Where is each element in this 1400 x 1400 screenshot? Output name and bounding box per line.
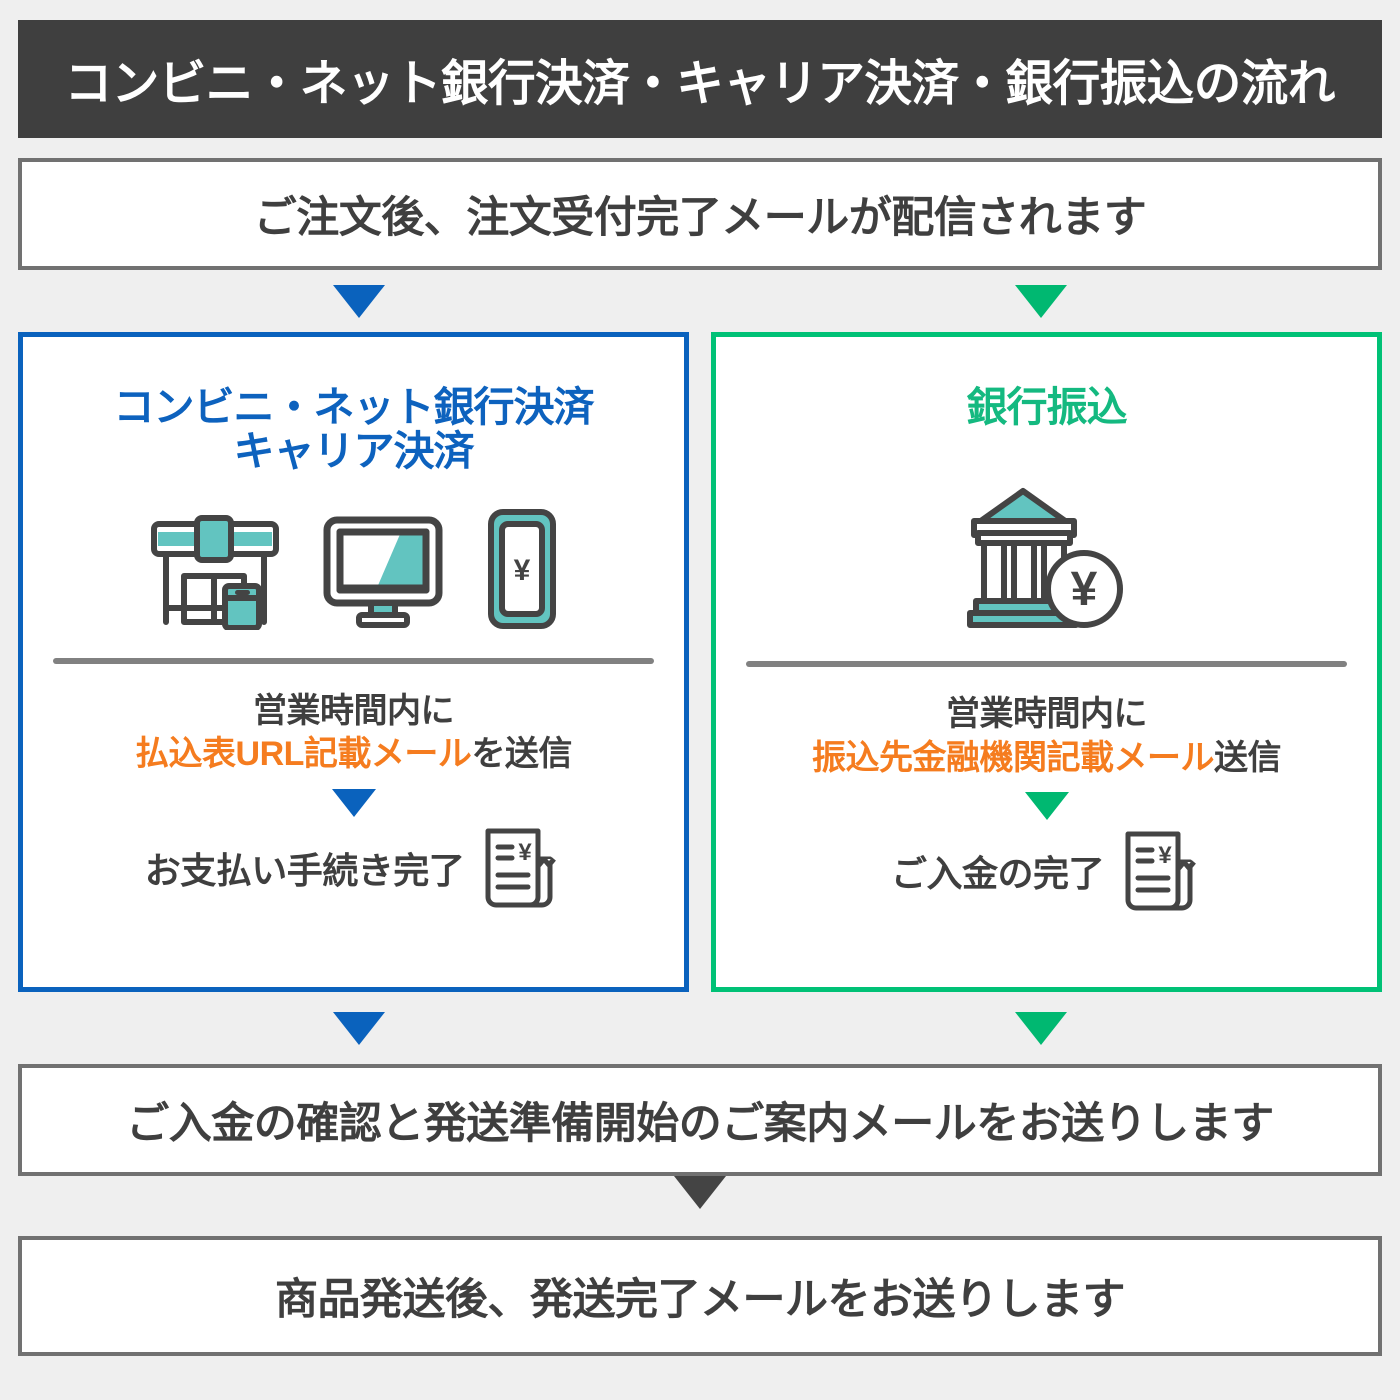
- step-payment-confirmation-label: ご入金の確認と発送準備開始のご案内メールをお送りします: [126, 1089, 1274, 1151]
- page-title: コンビニ・ネット銀行決済・キャリア決済・銀行振込の流れ: [65, 44, 1335, 115]
- panel-convenience-arrow: [332, 789, 376, 817]
- step-shipping-complete-mail: 商品発送後、発送完了メールをお送りします: [18, 1236, 1382, 1356]
- triangle-down-icon-blue-inner: [332, 789, 376, 817]
- panel-convenience-heading: コンビニ・ネット銀行決済 キャリア決済: [114, 385, 594, 474]
- triangle-down-icon-green-inner: [1025, 792, 1069, 820]
- triangle-down-icon-green-lower: [1015, 1012, 1067, 1045]
- triangle-down-icon-gray: [674, 1176, 726, 1209]
- panel-bank-arrow: [1025, 792, 1069, 820]
- receipt-yen-icon: ¥: [478, 825, 562, 911]
- panel-convenience-heading-line1: コンビニ・ネット銀行決済: [114, 384, 594, 430]
- bank-yen-icon: ¥: [960, 483, 1134, 633]
- panel-bank-final-label: ご入金の完了: [891, 845, 1104, 897]
- panel-bank-note-highlight: 振込先金融機関記載メール: [812, 739, 1214, 777]
- payment-method-panels: コンビニ・ネット銀行決済 キャリア決済: [18, 332, 1382, 992]
- triangle-down-icon-blue: [333, 285, 385, 318]
- payment-flow-diagram: コンビニ・ネット銀行決済・キャリア決済・銀行振込の流れ ご注文後、注文受付完了メ…: [0, 20, 1400, 1400]
- arrow-cell-right: [700, 270, 1382, 332]
- panel-convenience-divider: [53, 658, 654, 664]
- svg-text:¥: ¥: [513, 554, 530, 587]
- smartphone-yen-icon: ¥: [485, 508, 559, 630]
- panel-convenience-note: 営業時間内に 払込表URL記載メールを送信: [135, 690, 572, 777]
- triangle-down-icon-green: [1015, 285, 1067, 318]
- step-order-confirmation-label: ご注文後、注文受付完了メールが配信されます: [254, 183, 1147, 245]
- arrow-cell-left: [18, 270, 700, 332]
- panel-bank-icon-strip: ¥: [960, 503, 1134, 633]
- arrow-row-below-panels: [18, 992, 1382, 1064]
- panel-convenience-note-prefix: 営業時間内に: [253, 692, 454, 730]
- arrow-cell-right-lower: [700, 992, 1382, 1064]
- step-shipping-complete-label: 商品発送後、発送完了メールをお送りします: [275, 1265, 1125, 1327]
- arrow-row-to-shipping: [18, 1176, 1382, 1236]
- panel-bank-note-suffix: 送信: [1214, 739, 1281, 777]
- convenience-store-icon: [149, 510, 281, 630]
- panel-convenience-icon-strip: ¥: [149, 500, 559, 630]
- step-payment-confirmation-mail: ご入金の確認と発送準備開始のご案内メールをお送りします: [18, 1064, 1382, 1176]
- svg-text:¥: ¥: [1070, 563, 1097, 616]
- panel-bank-transfer: 銀行振込: [711, 332, 1382, 992]
- panel-bank-heading-line1: 銀行振込: [967, 384, 1127, 430]
- panel-convenience-store: コンビニ・ネット銀行決済 キャリア決済: [18, 332, 689, 992]
- arrow-cell-left-lower: [18, 992, 700, 1064]
- panel-convenience-note-suffix: を送信: [471, 735, 572, 773]
- panel-bank-note: 営業時間内に 振込先金融機関記載メール送信: [812, 693, 1281, 780]
- arrow-row-to-panels: [18, 270, 1382, 332]
- monitor-icon: [321, 512, 445, 630]
- panel-convenience-final: お支払い手続き完了 ¥: [145, 825, 563, 911]
- panel-convenience-note-highlight: 払込表URL記載メール: [135, 735, 471, 773]
- step-order-confirmation-mail: ご注文後、注文受付完了メールが配信されます: [18, 158, 1382, 270]
- svg-text:¥: ¥: [519, 839, 533, 866]
- panel-convenience-final-label: お支払い手続き完了: [145, 842, 465, 894]
- panel-bank-note-prefix: 営業時間内に: [946, 695, 1147, 733]
- svg-text:¥: ¥: [1158, 842, 1172, 869]
- diagram-title-bar: コンビニ・ネット銀行決済・キャリア決済・銀行振込の流れ: [18, 20, 1382, 138]
- panel-convenience-heading-line2: キャリア決済: [234, 428, 474, 474]
- receipt-yen-icon: ¥: [1118, 828, 1202, 914]
- panel-bank-heading: 銀行振込: [967, 385, 1127, 429]
- panel-bank-divider: [746, 661, 1347, 667]
- panel-bank-final: ご入金の完了 ¥: [891, 828, 1202, 914]
- triangle-down-icon-blue-lower: [333, 1012, 385, 1045]
